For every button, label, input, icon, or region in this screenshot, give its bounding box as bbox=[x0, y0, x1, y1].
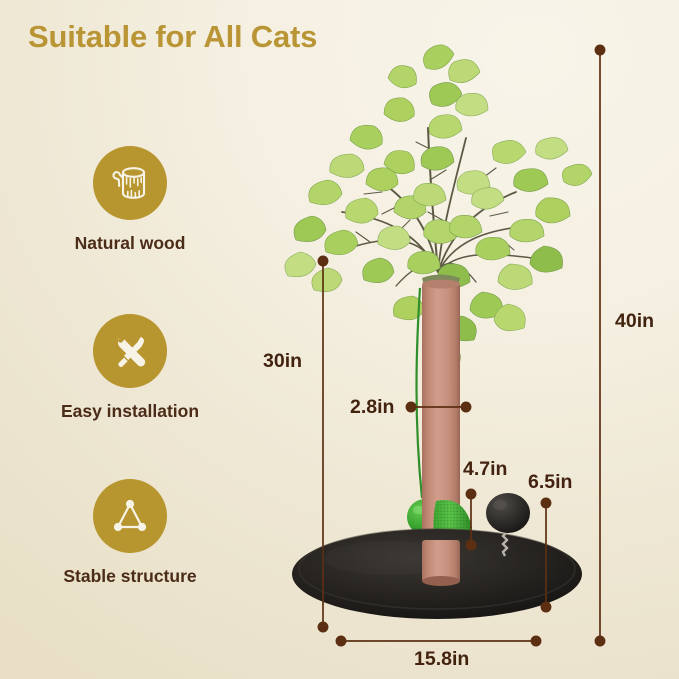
product-image bbox=[270, 20, 610, 640]
wood-log-icon bbox=[108, 161, 152, 205]
feature-easy-installation: Easy installation bbox=[0, 314, 260, 422]
feature-label: Stable structure bbox=[0, 566, 260, 587]
dim-label-15-8in: 15.8in bbox=[414, 648, 469, 671]
feature-stable-structure: Stable structure bbox=[0, 479, 260, 587]
feature-label: Easy installation bbox=[0, 401, 260, 422]
feature-badge bbox=[93, 479, 167, 553]
feature-natural-wood: Natural wood bbox=[0, 146, 260, 254]
feature-badge bbox=[93, 314, 167, 388]
feature-badge bbox=[93, 146, 167, 220]
dim-label-40in: 40in bbox=[615, 310, 654, 333]
feature-label: Natural wood bbox=[0, 233, 260, 254]
triangle-nodes-icon bbox=[108, 494, 152, 538]
wrench-screwdriver-icon bbox=[108, 329, 152, 373]
infographic-canvas: Suitable for All Cats bbox=[0, 0, 679, 679]
